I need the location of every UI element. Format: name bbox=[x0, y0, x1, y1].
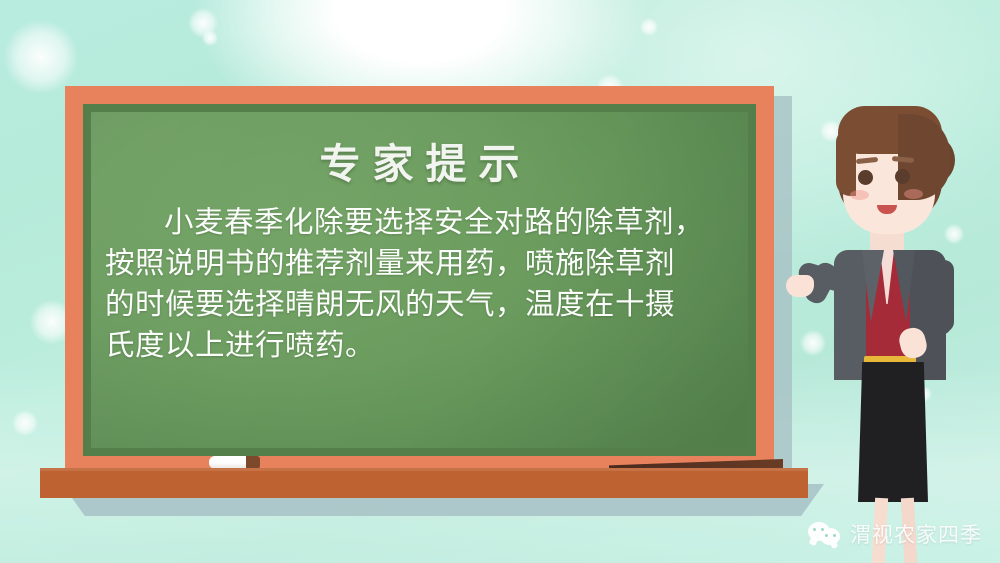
slide-canvas: 专家提示 小麦春季化除要选择安全对路的除草剂， 按照说明书的推荐剂量来用药，喷施… bbox=[0, 0, 1000, 563]
presenter-figure bbox=[780, 100, 1000, 563]
wechat-icon bbox=[808, 522, 842, 546]
board-body-text: 小麦春季化除要选择安全对路的除草剂， 按照说明书的推荐剂量来用药，喷施除草剂 的… bbox=[105, 202, 734, 366]
eye-right bbox=[895, 169, 910, 184]
blush-right bbox=[904, 189, 923, 199]
hair-side-left bbox=[836, 130, 856, 196]
board-body-line-3: 的时候要选择晴朗无风的天气，温度在十摄 bbox=[105, 284, 734, 325]
board-body-line-2: 按照说明书的推荐剂量来用药，喷施除草剂 bbox=[105, 243, 734, 284]
wechat-dot-4 bbox=[833, 534, 836, 537]
wechat-dot-2 bbox=[821, 528, 824, 531]
skirt bbox=[858, 362, 928, 502]
blush-left bbox=[850, 190, 869, 200]
blackboard-ledge bbox=[40, 468, 808, 498]
watermark-text: 渭视农家四季 bbox=[850, 519, 982, 549]
channel-watermark: 渭视农家四季 bbox=[808, 519, 982, 549]
wechat-dot-1 bbox=[813, 528, 816, 531]
board-title: 专家提示 bbox=[91, 130, 748, 190]
wechat-dot-3 bbox=[825, 534, 828, 537]
hand-presenting bbox=[786, 275, 814, 297]
blackboard-face: 专家提示 小麦春季化除要选择安全对路的除草剂， 按照说明书的推荐剂量来用药，喷施… bbox=[91, 112, 748, 448]
eye-left bbox=[858, 170, 873, 185]
blackboard-ledge-edge bbox=[40, 468, 808, 471]
board-body-line-4: 氏度以上进行喷药。 bbox=[105, 325, 734, 366]
board-body-line-1: 小麦春季化除要选择安全对路的除草剂， bbox=[105, 202, 734, 243]
